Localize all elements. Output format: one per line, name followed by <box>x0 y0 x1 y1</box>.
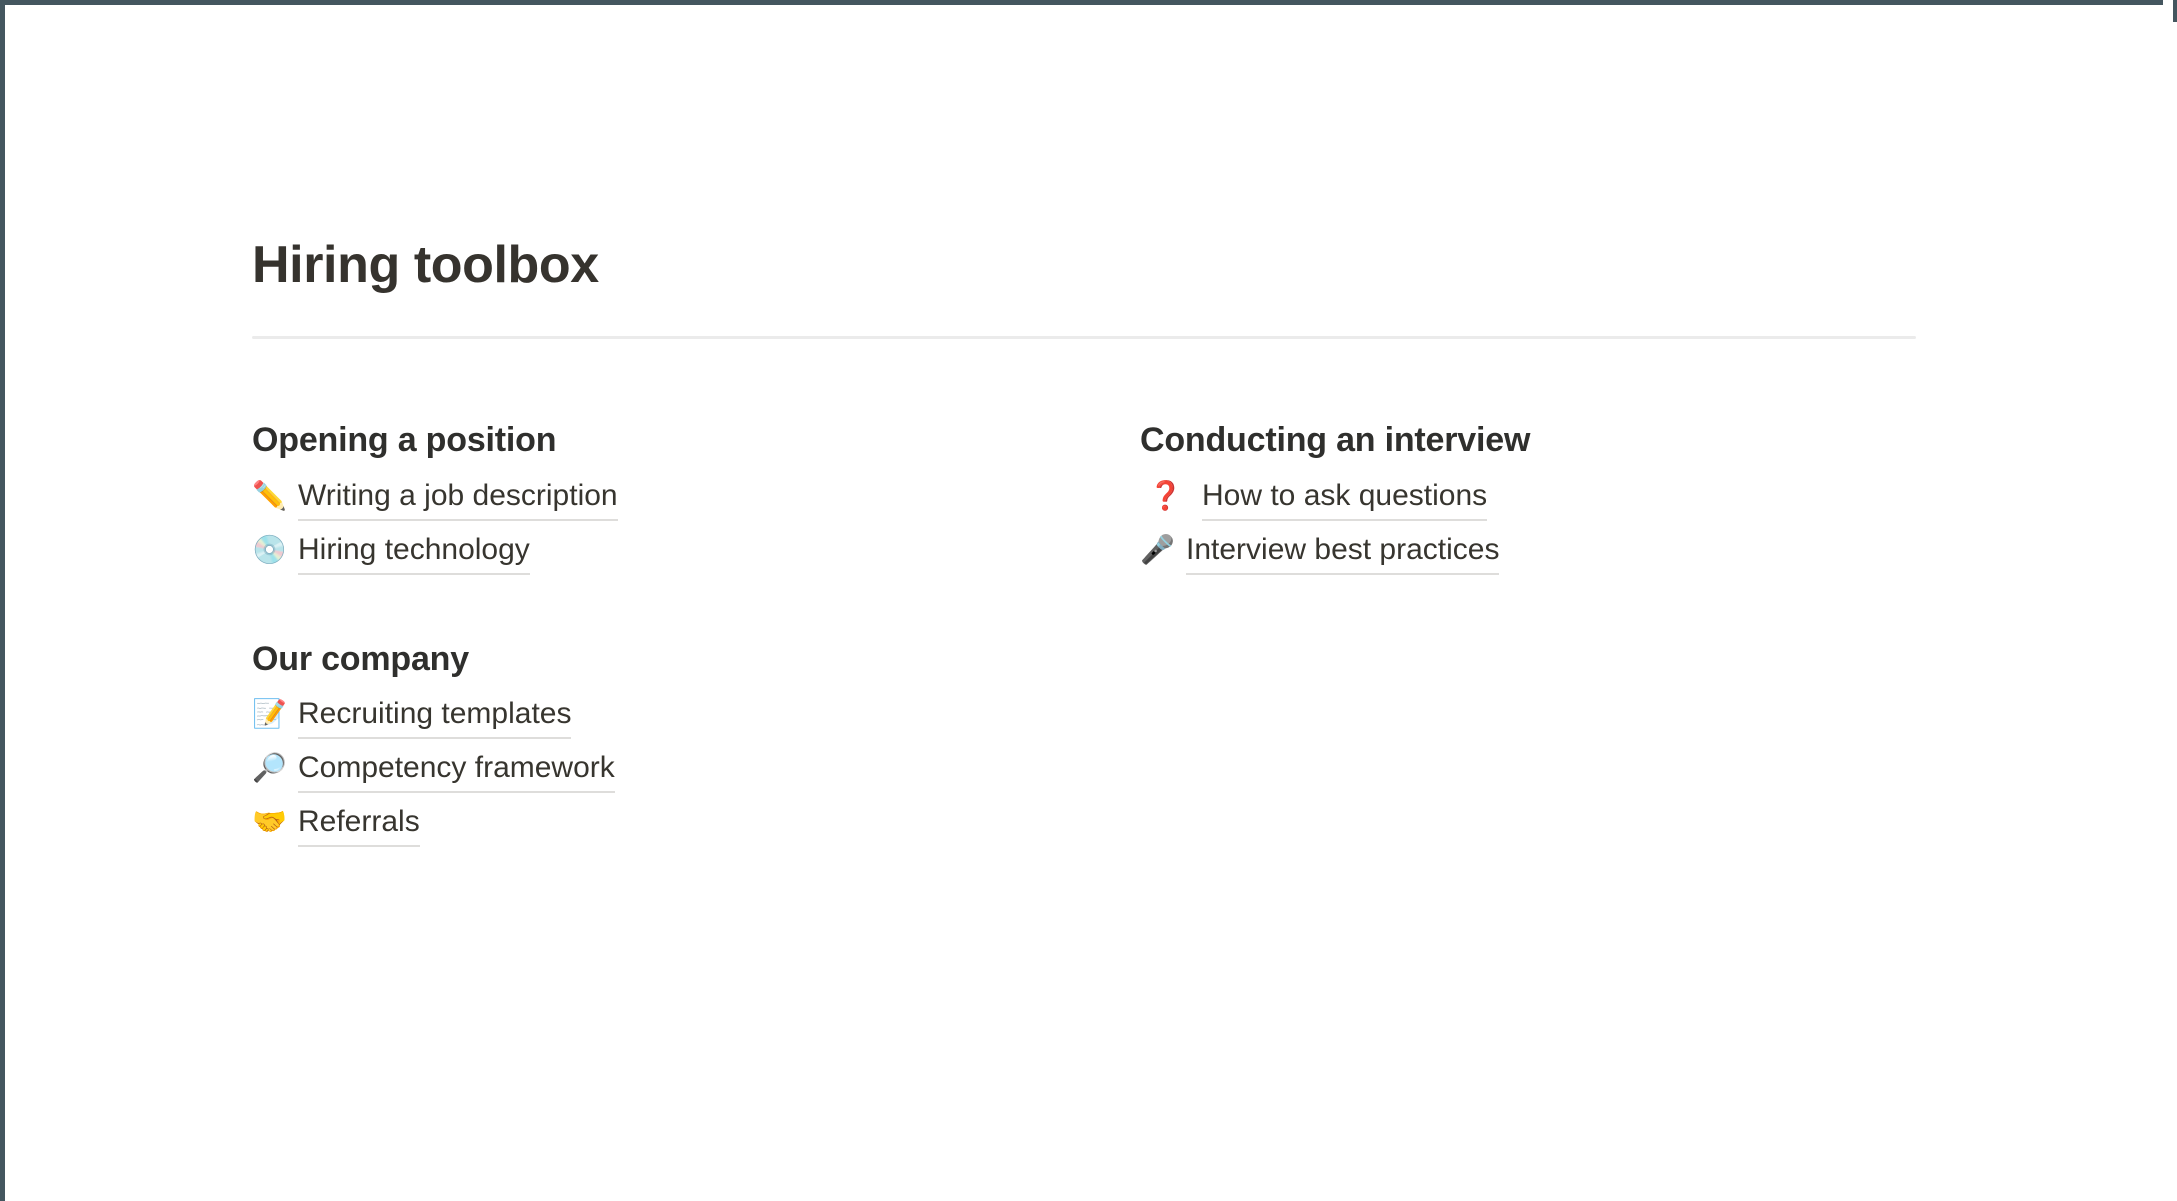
link-row[interactable]: 📝Recruiting templates <box>252 694 1140 734</box>
link-row[interactable]: 🔎Competency framework <box>252 748 1140 788</box>
columns-container: Opening a position✏️Writing a job descri… <box>252 419 1932 842</box>
content-link[interactable]: Recruiting templates <box>298 694 571 739</box>
section: Our company📝Recruiting templates🔎Compete… <box>252 638 1140 843</box>
content-link[interactable]: Writing a job description <box>298 476 618 521</box>
link-row[interactable]: 🤝Referrals <box>252 802 1140 842</box>
section-heading: Opening a position <box>252 419 1140 462</box>
content-link[interactable]: How to ask questions <box>1202 476 1487 521</box>
content-link[interactable]: Competency framework <box>298 748 615 793</box>
section: Opening a position✏️Writing a job descri… <box>252 419 1140 570</box>
memo-icon: 📝 <box>252 694 298 734</box>
section: Conducting an interview❓How to ask quest… <box>1140 419 2028 570</box>
window-left-border <box>0 0 5 1201</box>
page-title: Hiring toolbox <box>252 0 1932 294</box>
content-link[interactable]: Interview best practices <box>1186 530 1499 575</box>
link-row[interactable]: ✏️Writing a job description <box>252 476 1140 516</box>
document-content: Hiring toolbox Opening a position✏️Writi… <box>252 0 1932 842</box>
title-divider <box>252 336 1916 339</box>
question-mark-icon: ❓ <box>1140 476 1202 516</box>
content-link[interactable]: Referrals <box>298 802 420 847</box>
page-root: Hiring toolbox Opening a position✏️Writi… <box>0 0 2177 1201</box>
section-heading: Conducting an interview <box>1140 419 2028 462</box>
window-right-border <box>2173 0 2177 22</box>
watermark-ghost <box>14 52 174 74</box>
link-row[interactable]: ❓How to ask questions <box>1140 476 2028 516</box>
pencil-icon: ✏️ <box>252 476 298 516</box>
left-column: Opening a position✏️Writing a job descri… <box>252 419 1140 842</box>
microphone-icon: 🎤 <box>1140 530 1186 570</box>
content-link[interactable]: Hiring technology <box>298 530 530 575</box>
magnifying-glass-icon: 🔎 <box>252 748 298 788</box>
right-column: Conducting an interview❓How to ask quest… <box>1140 419 2028 842</box>
handshake-icon: 🤝 <box>252 802 298 842</box>
optical-disc-icon: 💿 <box>252 530 298 570</box>
link-row[interactable]: 🎤Interview best practices <box>1140 530 2028 570</box>
link-row[interactable]: 💿Hiring technology <box>252 530 1140 570</box>
section-heading: Our company <box>252 638 1140 681</box>
